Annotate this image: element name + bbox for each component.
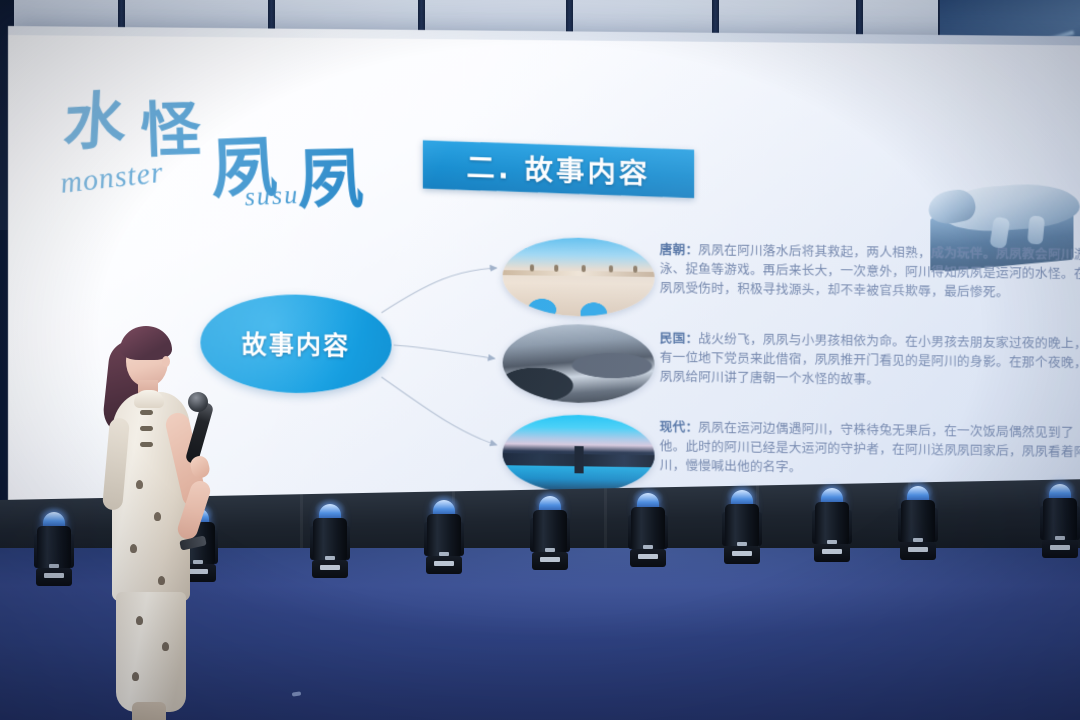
qipao-frog-button bbox=[140, 426, 153, 431]
brand-logo: 水 怪 夙 夙 monster susu bbox=[58, 69, 400, 203]
logo-latin-susu: susu bbox=[244, 180, 300, 212]
presenter-dress-skirt bbox=[116, 592, 186, 712]
stage-light bbox=[310, 504, 350, 580]
logo-char-1: 水 bbox=[61, 69, 128, 162]
thumbnail-image bbox=[503, 414, 655, 495]
stage-light bbox=[34, 512, 74, 588]
thumbnail-image bbox=[503, 237, 655, 317]
stage-light bbox=[898, 486, 938, 562]
thumbnail-modern-canal-night-view bbox=[503, 414, 655, 495]
branch-era-label: 民国： bbox=[660, 330, 699, 346]
presenter-hair-top bbox=[120, 326, 172, 360]
tower-silhouette bbox=[574, 446, 583, 473]
branch-text-republic: 民国：战火纷飞，夙夙与小男孩相依为命。在小男孩去朋友家过夜的晚上，有一位地下党员… bbox=[660, 328, 1080, 391]
branch-text-tang: 唐朝：夙夙在阿川落水后将其救起，两人相熟，成为玩伴。夙夙教会阿川游泳、捉鱼等游戏… bbox=[660, 240, 1080, 303]
qipao-frog-button bbox=[140, 442, 153, 447]
stage-light bbox=[530, 496, 570, 572]
thumbnail-republic-era-wartime-photo bbox=[503, 323, 655, 404]
branch-body-text: 夙夙在运河边偶遇阿川，守株待兔无果后，在一次饭局偶然见到了他。此时的阿川已经是大… bbox=[660, 420, 1080, 475]
stage-light bbox=[628, 493, 668, 569]
stage-light bbox=[1040, 484, 1080, 560]
presenter-collar bbox=[134, 390, 164, 408]
branch-body-text: 战火纷飞，夙夙与小男孩相依为命。在小男孩去朋友家过夜的晚上，有一位地下党员来此借… bbox=[660, 331, 1080, 387]
stage-light bbox=[424, 500, 464, 576]
slide-title-banner: 二. 故事内容 bbox=[423, 140, 694, 198]
sculpture-leg bbox=[1027, 215, 1045, 245]
qipao-frog-button bbox=[140, 410, 153, 415]
branch-text-modern: 现代：夙夙在运河边偶遇阿川，守株待兔无果后，在一次饭局偶然见到了他。此时的阿川已… bbox=[660, 417, 1080, 481]
thumbnail-tang-dynasty-canal-bridge bbox=[503, 237, 655, 317]
presenter bbox=[96, 330, 236, 720]
branch-body-text: 夙夙在阿川落水后将其救起，两人相熟，成为玩伴。夙夙教会阿川游泳、捉鱼等游戏。再后… bbox=[660, 242, 1080, 299]
presenter-ankles bbox=[132, 702, 166, 720]
branch-era-label: 现代： bbox=[660, 419, 699, 435]
thumbnail-image bbox=[503, 323, 655, 404]
slide-title: 二. 故事内容 bbox=[423, 140, 694, 198]
presenter-ear bbox=[162, 356, 170, 367]
center-node-label: 故事内容 bbox=[242, 325, 351, 363]
logo-char-4: 夙 bbox=[295, 125, 365, 223]
conference-stage-photo: 水 怪 夙 夙 monster susu 二. 故事内容 故事内容 bbox=[0, 0, 1080, 720]
logo-latin-monster: monster bbox=[58, 156, 165, 201]
stage-light bbox=[812, 488, 852, 564]
stage-light bbox=[722, 490, 762, 566]
branch-era-label: 唐朝： bbox=[660, 242, 699, 258]
bridge-rail bbox=[503, 270, 655, 277]
